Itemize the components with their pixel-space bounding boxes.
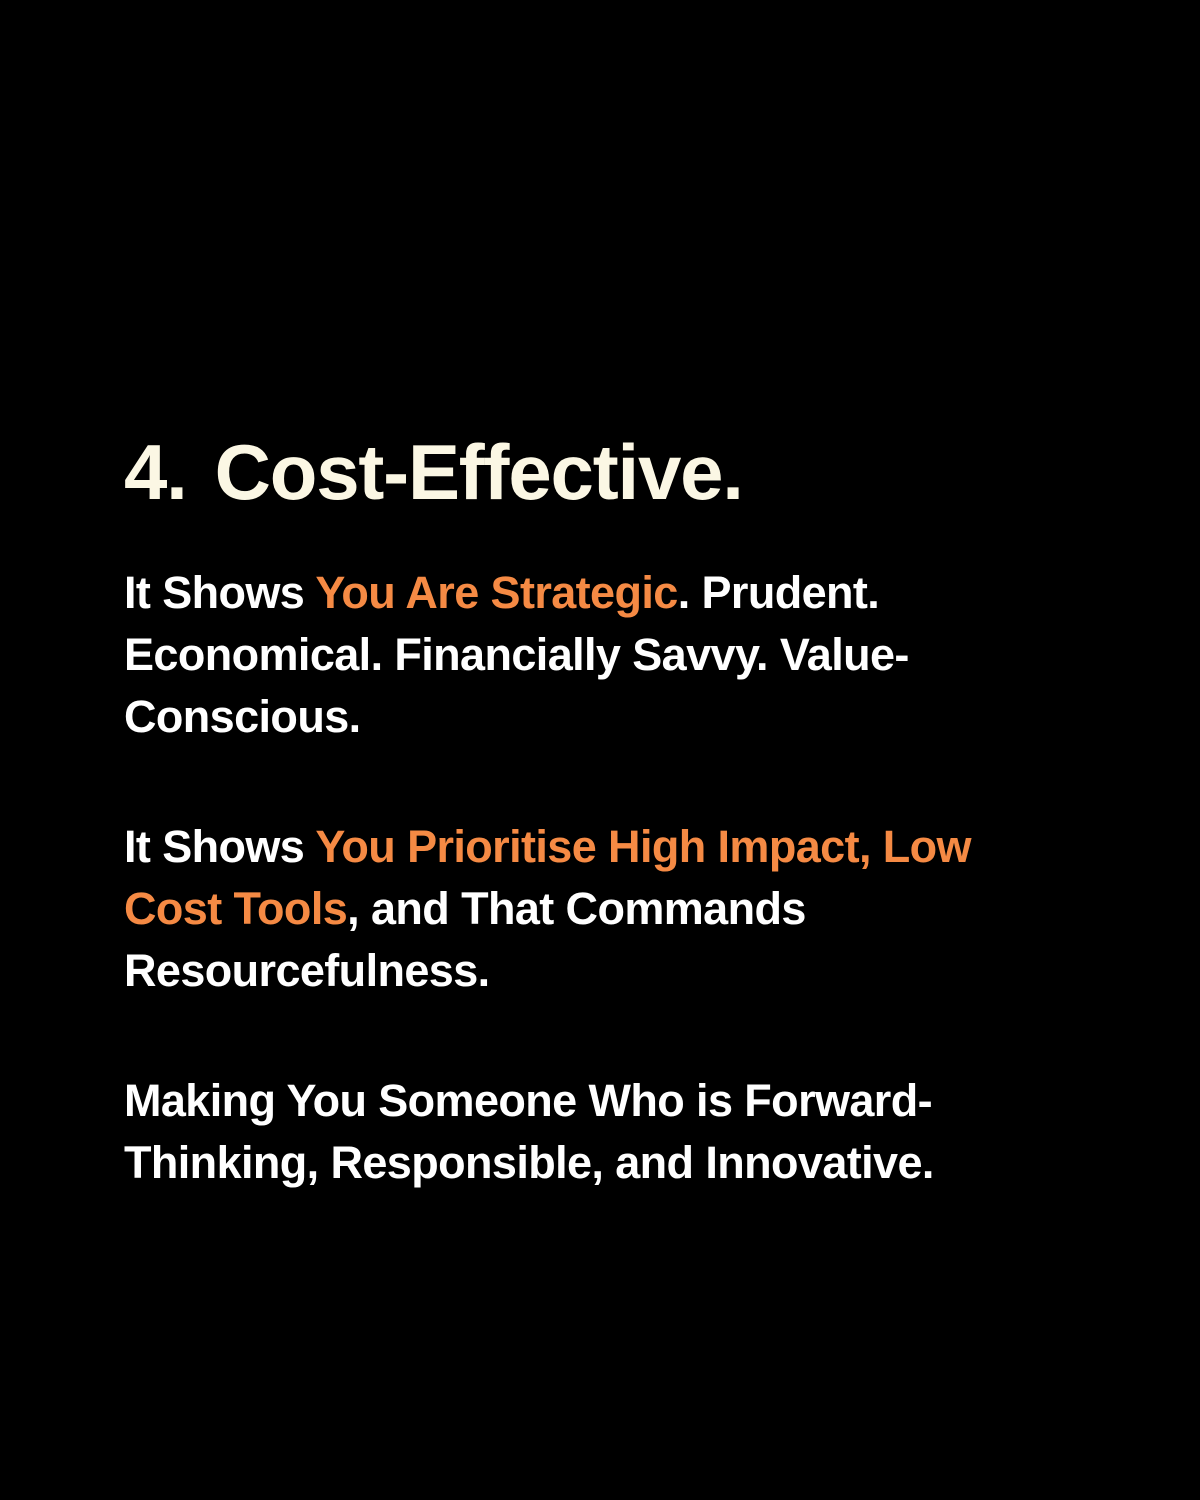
paragraph-strategic-highlight: You Are Strategic — [315, 567, 677, 618]
slide-number: 4. — [124, 426, 187, 518]
slide-content: 4.Cost-Effective. It Shows You Are Strat… — [124, 426, 1069, 1194]
page-title: 4.Cost-Effective. — [124, 426, 1069, 518]
slide-root: 4.Cost-Effective. It Shows You Are Strat… — [0, 0, 1200, 1500]
title-text: Cost-Effective. — [215, 428, 743, 516]
paragraph-strategic-lead: It Shows — [124, 567, 315, 618]
paragraph-prioritise-text: It Shows You Prioritise High Impact, Low… — [124, 816, 1069, 1002]
paragraph-prioritise: It Shows You Prioritise High Impact, Low… — [124, 816, 1069, 1002]
paragraph-forward-thinking-text: Making You Someone Who is Forward-Thinki… — [124, 1070, 1069, 1194]
paragraph-strategic-text: It Shows You Are Strategic. Prudent. Eco… — [124, 562, 1069, 748]
paragraph-prioritise-lead: It Shows — [124, 821, 315, 872]
paragraph-strategic: It Shows You Are Strategic. Prudent. Eco… — [124, 562, 1069, 748]
paragraph-forward-thinking: Making You Someone Who is Forward-Thinki… — [124, 1070, 1069, 1194]
